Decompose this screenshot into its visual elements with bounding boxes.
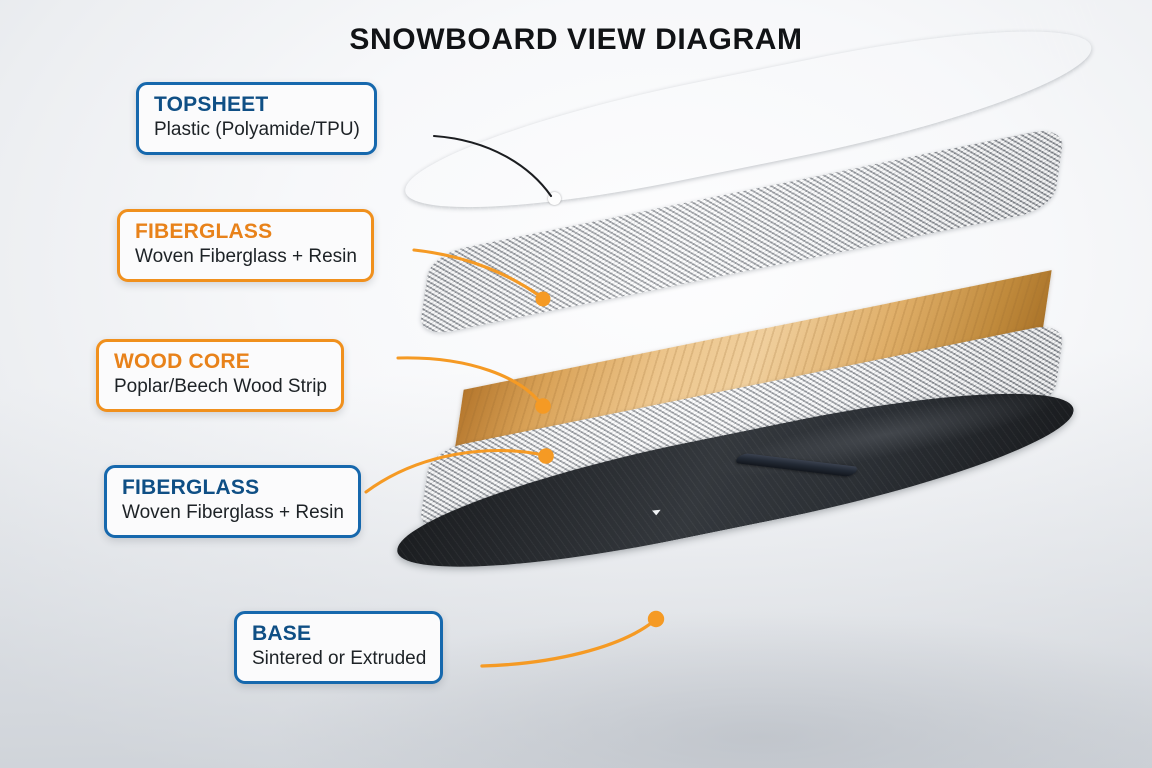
label-card-wood-core[interactable]: WOOD CORE Poplar/Beech Wood Strip bbox=[96, 339, 344, 412]
label-title-fiberglass-bottom: FIBERGLASS bbox=[122, 476, 344, 499]
label-card-base[interactable]: BASE Sintered or Extruded bbox=[234, 611, 443, 684]
label-subtitle-wood-core: Poplar/Beech Wood Strip bbox=[114, 375, 327, 399]
label-card-fiberglass-bottom[interactable]: FIBERGLASS Woven Fiberglass + Resin bbox=[104, 465, 361, 538]
label-subtitle-base: Sintered or Extruded bbox=[252, 647, 426, 671]
label-card-topsheet[interactable]: TOPSHEET Plastic (Polyamide/TPU) bbox=[136, 82, 377, 155]
label-title-wood-core: WOOD CORE bbox=[114, 350, 327, 373]
binding-strip bbox=[733, 453, 860, 477]
base-highlight-nick bbox=[651, 509, 661, 517]
label-subtitle-topsheet: Plastic (Polyamide/TPU) bbox=[154, 118, 360, 142]
label-title-base: BASE bbox=[252, 622, 426, 645]
diagram-canvas: SNOWBOARD VIEW DIAGRAM bbox=[0, 0, 1152, 768]
label-subtitle-fiberglass-bottom: Woven Fiberglass + Resin bbox=[122, 501, 344, 525]
label-title-topsheet: TOPSHEET bbox=[154, 93, 360, 116]
layer-base[interactable] bbox=[390, 448, 1100, 658]
topsheet-callout-marker bbox=[548, 192, 561, 205]
label-title-fiberglass-top: FIBERGLASS bbox=[135, 220, 357, 243]
label-card-fiberglass-top[interactable]: FIBERGLASS Woven Fiberglass + Resin bbox=[117, 209, 374, 282]
label-subtitle-fiberglass-top: Woven Fiberglass + Resin bbox=[135, 245, 357, 269]
